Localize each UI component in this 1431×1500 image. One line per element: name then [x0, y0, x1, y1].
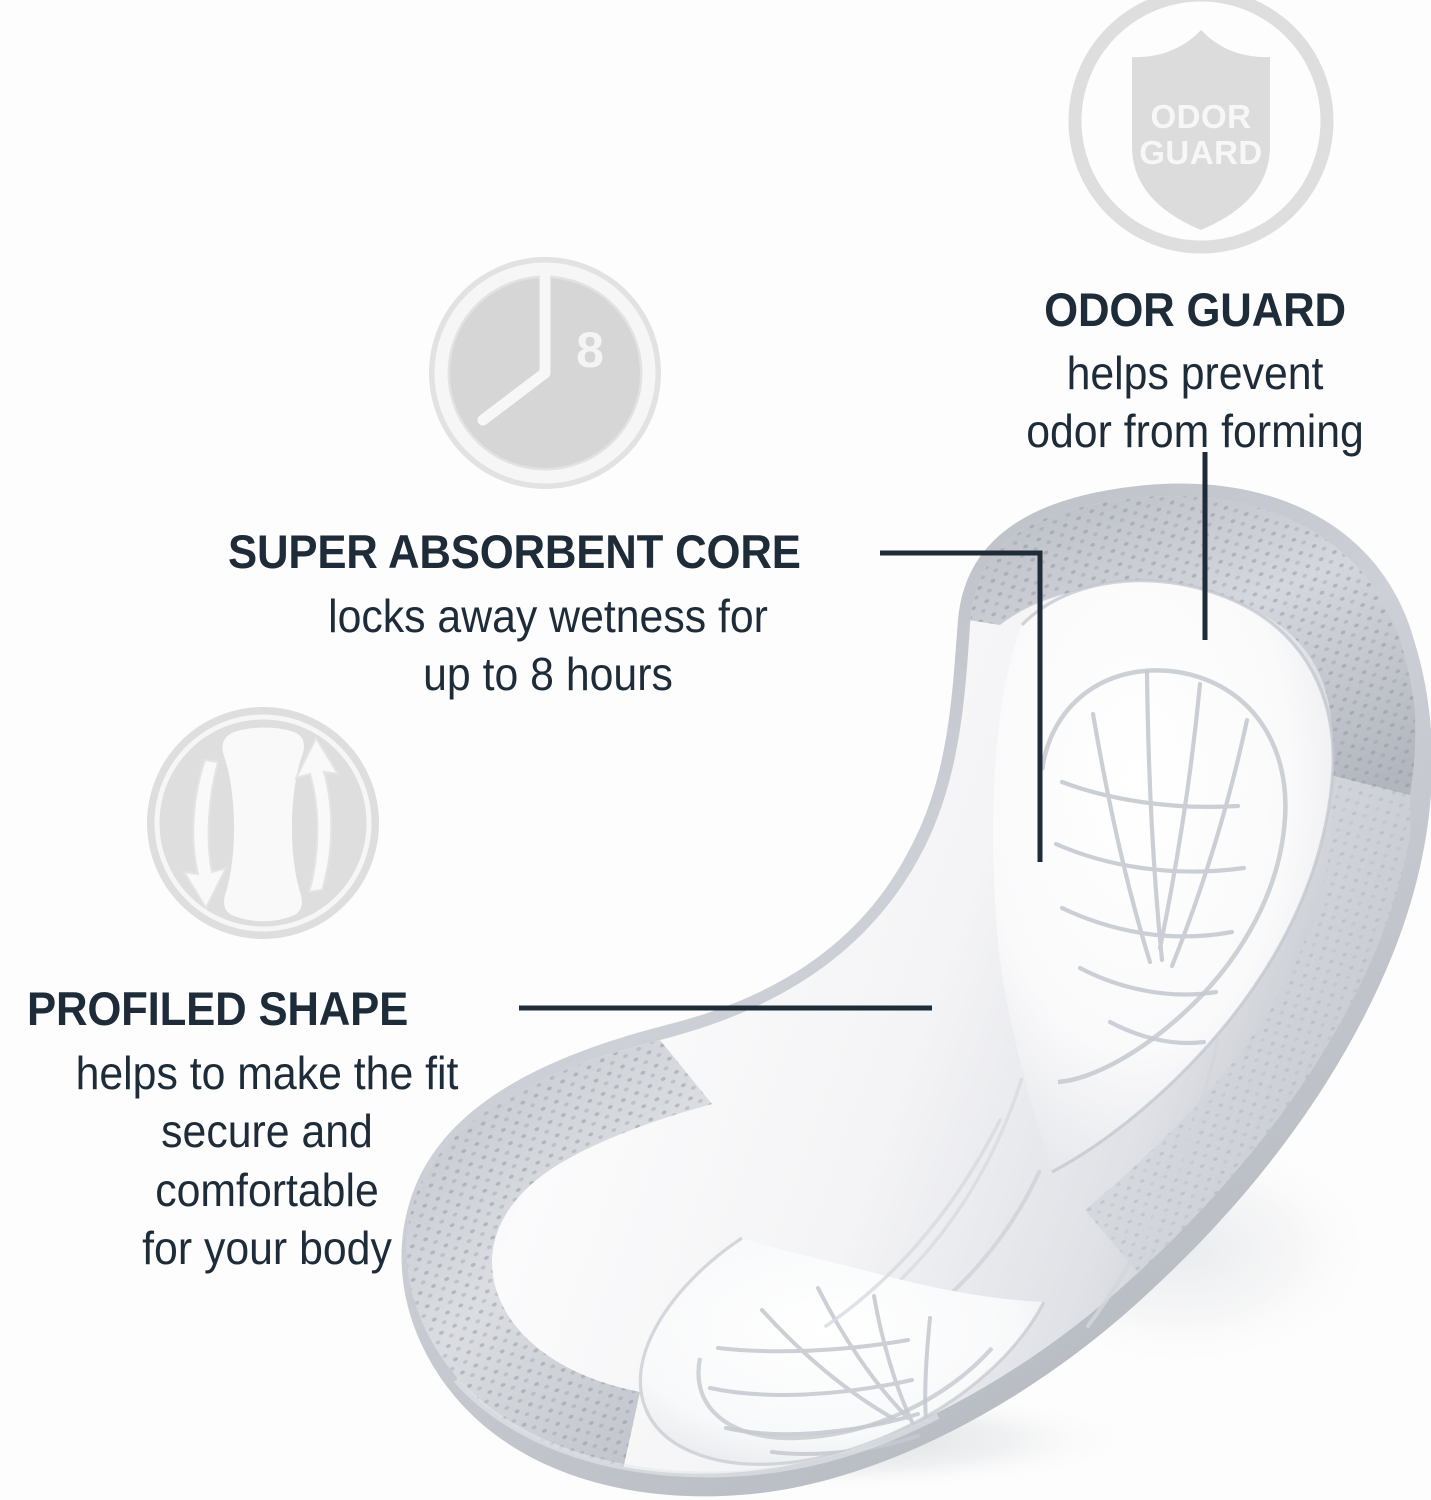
pad-long-seam-right: [1088, 1040, 1218, 1326]
shield-icon-label-line2: GUARD: [1139, 134, 1263, 171]
callout-super-absorbent-core-body: locks away wetness for up to 8 hours: [250, 587, 845, 704]
callout-super-absorbent-core: SUPER ABSORBENT CORE locks away wetness …: [228, 528, 868, 704]
clock-icon-label: 8: [576, 322, 604, 378]
callout-profiled-shape-heading: PROFILED SHAPE: [27, 985, 473, 1032]
callout-profiled-shape-body: helps to make the fit secure and comfort…: [44, 1044, 490, 1278]
profiled-shape-icon: [142, 702, 384, 944]
clock-icon: 8: [424, 252, 666, 494]
callout-profiled-shape-body-line-1: helps to make the fit: [44, 1044, 490, 1102]
product-shadow: [480, 1388, 1140, 1492]
pad-center-ridge: [744, 1170, 1040, 1400]
pad-core-lower: [640, 1238, 1044, 1464]
callout-odor-guard-body-line-1: helps prevent: [976, 344, 1413, 402]
callout-odor-guard: ODOR GUARD helps prevent odor from formi…: [960, 286, 1430, 461]
callout-odor-guard-body: helps prevent odor from forming: [976, 344, 1413, 461]
leader-line-super-absorbent-core: [880, 553, 1040, 862]
callout-profiled-shape: PROFILED SHAPE helps to make the fit sec…: [27, 985, 507, 1278]
product-feature-infographic: ODOR GUARD 8 ODOR GUARD helps prevent od…: [0, 0, 1431, 1500]
callout-odor-guard-body-line-2: odor from forming: [976, 402, 1413, 460]
pad-emboss-lines-lower: [710, 1288, 930, 1454]
shield-icon: ODOR GUARD: [1058, 0, 1344, 264]
pad-core-upper: [993, 581, 1333, 1172]
pad-emboss-lines-upper: [1056, 672, 1247, 1043]
pad-core-upper-ring: [1042, 670, 1285, 1082]
pad-long-seam-left: [826, 1120, 1000, 1326]
callout-odor-guard-heading: ODOR GUARD: [976, 286, 1413, 333]
callout-super-absorbent-core-heading: SUPER ABSORBENT CORE: [228, 528, 823, 575]
pad-core-lower-ring: [698, 1348, 992, 1438]
callout-super-absorbent-core-body-line-2: up to 8 hours: [250, 645, 845, 703]
callout-profiled-shape-body-line-2: secure and comfortable: [44, 1102, 490, 1219]
shield-icon-label-line1: ODOR: [1151, 98, 1252, 135]
callout-profiled-shape-body-line-3: for your body: [44, 1219, 490, 1277]
callout-super-absorbent-core-body-line-1: locks away wetness for: [250, 587, 845, 645]
